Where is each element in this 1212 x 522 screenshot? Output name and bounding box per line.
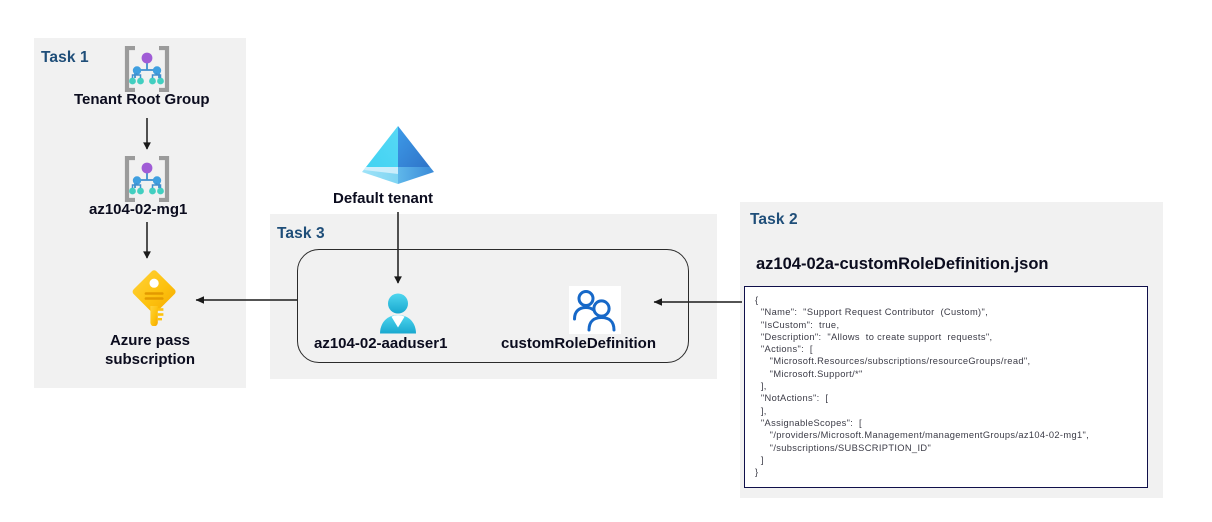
json-code-text: { "Name": "Support Request Contributor (… [755,294,1147,478]
task1-label: Task 1 [41,49,89,67]
json-filename-label: az104-02a-customRoleDefinition.json [756,255,1048,274]
azure-ad-tenant-icon [358,122,438,190]
azure-pass-subscription-label: Azure pass subscription [90,331,210,369]
key-icon [130,268,184,326]
user-icon [375,292,421,336]
tenant-root-group-label: Tenant Root Group [74,90,210,109]
diagram-canvas: Task 1 Task 3 Task 2 [0,0,1212,522]
json-code-box: { "Name": "Support Request Contributor (… [744,286,1148,488]
task3-label: Task 3 [277,225,325,243]
custom-role-definition-label: customRoleDefinition [501,334,656,353]
task2-label: Task 2 [750,211,798,229]
aad-user-label: az104-02-aaduser1 [314,334,447,353]
role-definition-icon [569,286,621,334]
management-group-icon [121,156,173,202]
management-group-icon [121,46,173,92]
default-tenant-label: Default tenant [333,189,433,208]
management-group-label: az104-02-mg1 [89,200,187,219]
